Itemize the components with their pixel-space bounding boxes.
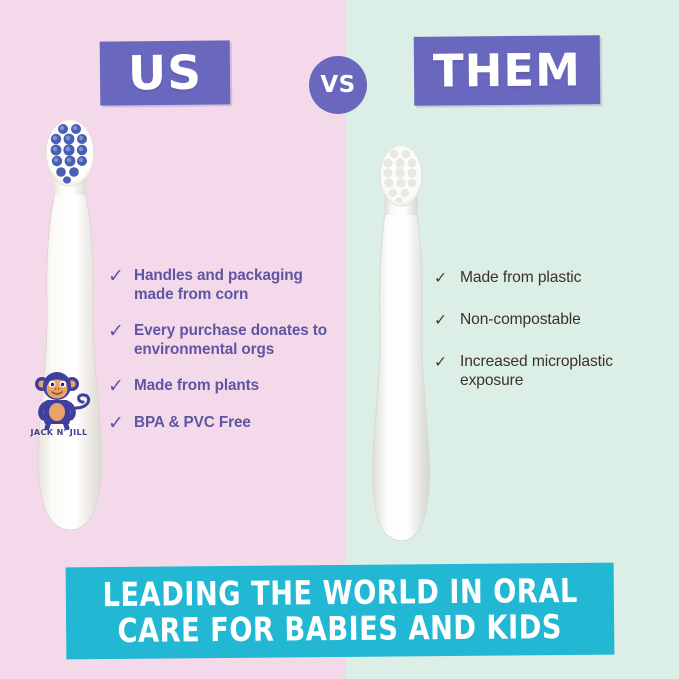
brand-logo-group: JACK N' JILL [20, 368, 98, 448]
check-icon: ✓ [108, 266, 128, 286]
check-icon: ✓ [434, 352, 454, 372]
us-label-text: US [128, 49, 203, 97]
list-item: ✓ Every purchase donates to environmenta… [108, 321, 336, 359]
monkey-mascot-icon [20, 368, 98, 430]
feature-text: Every purchase donates to environmental … [134, 321, 336, 359]
vs-badge: VS [309, 56, 367, 114]
their-brush-handle-shape [373, 213, 430, 541]
check-icon: ✓ [108, 413, 128, 433]
feature-text: BPA & PVC Free [134, 413, 251, 432]
check-icon: ✓ [434, 310, 454, 330]
vs-label-text: VS [320, 72, 355, 98]
brush-handle-shape [38, 193, 102, 530]
them-label-text: THEM [433, 47, 581, 93]
our-features-list: ✓ Handles and packaging made from corn ✓… [108, 266, 336, 450]
them-label-badge: THEM [414, 35, 601, 106]
list-item: ✓ Increased microplastic exposure [434, 352, 639, 390]
feature-text: Made from plants [134, 376, 259, 395]
feature-text: Made from plastic [460, 268, 581, 287]
their-features-list: ✓ Made from plastic ✓ Non-compostable ✓ … [434, 268, 639, 412]
tagline-line-2: CARE FOR BABIES AND KIDS [118, 609, 563, 649]
check-icon: ✓ [108, 376, 128, 396]
feature-text: Non-compostable [460, 310, 581, 329]
list-item: ✓ Made from plastic [434, 268, 639, 288]
comparison-infographic: US VS THEM [0, 0, 679, 679]
brand-name-text: JACK N' JILL [20, 428, 98, 437]
list-item: ✓ Handles and packaging made from corn [108, 266, 336, 304]
list-item: ✓ Made from plants [108, 376, 336, 396]
feature-text: Handles and packaging made from corn [134, 266, 336, 304]
feature-text: Increased microplastic exposure [460, 352, 639, 390]
our-toothbrush-image [22, 115, 118, 535]
tagline-banner: LEADING THE WORLD IN ORAL CARE FOR BABIE… [66, 563, 615, 660]
check-icon: ✓ [434, 268, 454, 288]
us-label-badge: US [100, 40, 231, 105]
check-icon: ✓ [108, 321, 128, 341]
their-toothbrush-image [356, 143, 438, 543]
list-item: ✓ BPA & PVC Free [108, 413, 336, 433]
list-item: ✓ Non-compostable [434, 310, 639, 330]
